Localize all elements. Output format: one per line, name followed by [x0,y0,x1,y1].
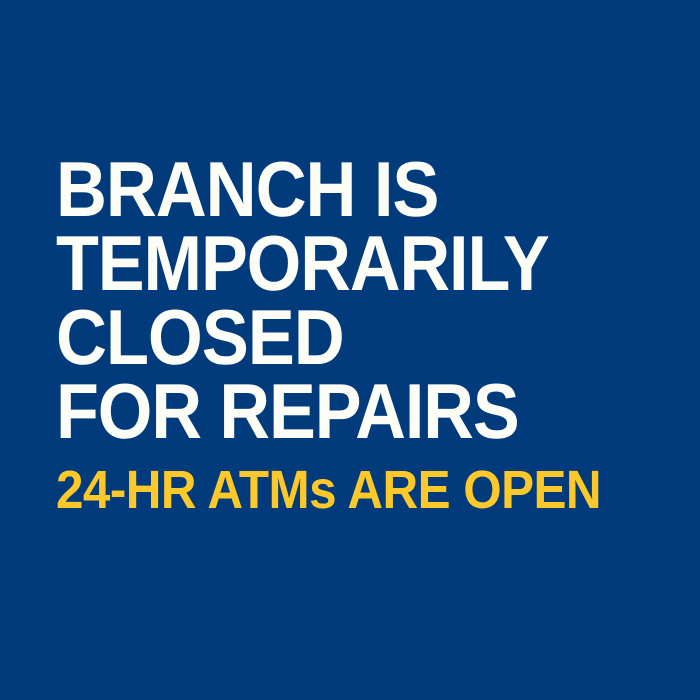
notice-text-block: BRANCH IS TEMPORARILY CLOSED FOR REPAIRS… [56,152,696,518]
headline-line-3: CLOSED [56,300,635,374]
atm-availability-subline: 24-HR ATMs ARE OPEN [56,462,642,518]
headline-line-1: BRANCH IS [56,152,635,226]
headline-group: BRANCH IS TEMPORARILY CLOSED FOR REPAIRS [56,152,696,448]
closure-notice-sign: BRANCH IS TEMPORARILY CLOSED FOR REPAIRS… [0,0,700,700]
headline-line-2: TEMPORARILY [56,226,632,300]
headline-line-4: FOR REPAIRS [56,374,632,448]
